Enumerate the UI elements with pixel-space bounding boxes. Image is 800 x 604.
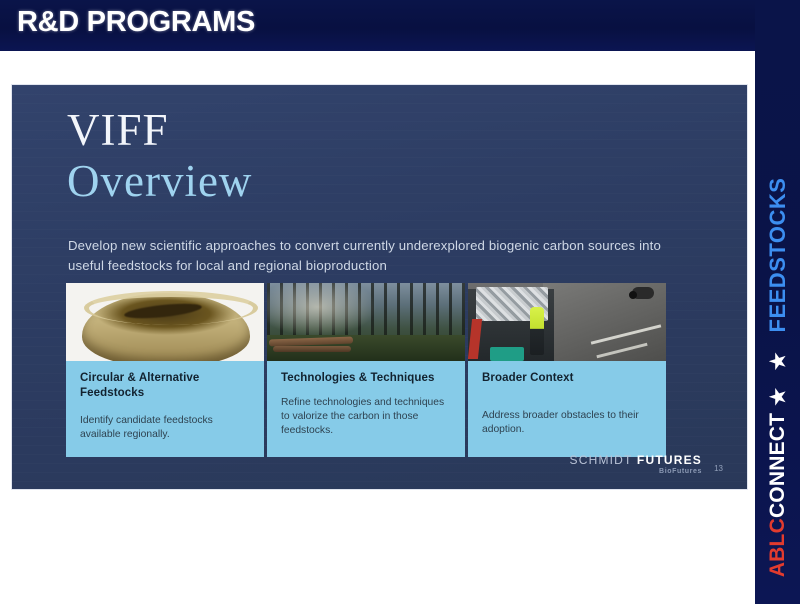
panel-text: Address broader obstacles to their adopt… xyxy=(482,409,654,437)
recycling-truck-photo xyxy=(468,283,666,361)
star-divider-icon: ★ ★ xyxy=(765,346,790,405)
panel-heading: Broader Context xyxy=(482,371,654,386)
page-title: R&D PROGRAMS xyxy=(17,6,255,39)
sidebar-brand-primary: ABLC xyxy=(766,518,789,577)
logo-word-light: SCHMIDT xyxy=(570,453,633,467)
misty-forest-photo xyxy=(267,283,465,361)
walnut-shell-photo xyxy=(66,283,264,361)
sidebar-brand-secondary: CONNECT xyxy=(766,413,789,518)
panel-heading: Circular & Alternative Feedstocks xyxy=(80,371,252,400)
panel-text: Identify candidate feedstocks available … xyxy=(80,414,252,442)
panel-body: Broader Context Address broader obstacle… xyxy=(468,361,666,457)
conference-sidebar: FEEDSTOCKS ★ ★ ABLCCONNECT xyxy=(755,0,800,604)
slide-page-number: 13 xyxy=(714,464,723,473)
slide-subtitle: Develop new scientific approaches to con… xyxy=(68,236,668,275)
sidebar-brand: ABLCCONNECT xyxy=(766,413,790,577)
logo-subbrand: BioFutures xyxy=(570,468,702,475)
panel-group: Circular & Alternative Feedstocks Identi… xyxy=(66,283,666,457)
logo-word-bold: FUTURES xyxy=(637,453,702,467)
panel-text: Refine technologies and techniques to va… xyxy=(281,396,453,438)
slide-title-line2: Overview xyxy=(67,156,252,207)
page-root: R&D PROGRAMS FEEDSTOCKS ★ ★ ABLCCONNECT … xyxy=(0,0,800,604)
panel-technologies-techniques: Technologies & Techniques Refine technol… xyxy=(267,283,465,457)
logo-wordmark: SCHMIDT FUTURES xyxy=(570,454,702,467)
presentation-slide: VIFF Overview Develop new scientific app… xyxy=(12,85,747,489)
header-bar: R&D PROGRAMS xyxy=(0,0,800,51)
slide-title-line1: VIFF xyxy=(67,105,252,156)
panel-body: Circular & Alternative Feedstocks Identi… xyxy=(66,361,264,457)
schmidt-futures-logo: SCHMIDT FUTURES BioFutures xyxy=(570,454,702,475)
panel-heading: Technologies & Techniques xyxy=(281,371,453,386)
panel-body: Technologies & Techniques Refine technol… xyxy=(267,361,465,457)
slide-title: VIFF Overview xyxy=(67,105,252,207)
panel-circular-alternative-feedstocks: Circular & Alternative Feedstocks Identi… xyxy=(66,283,264,457)
panel-broader-context: Broader Context Address broader obstacle… xyxy=(468,283,666,457)
sidebar-track-label: FEEDSTOCKS xyxy=(765,178,791,333)
